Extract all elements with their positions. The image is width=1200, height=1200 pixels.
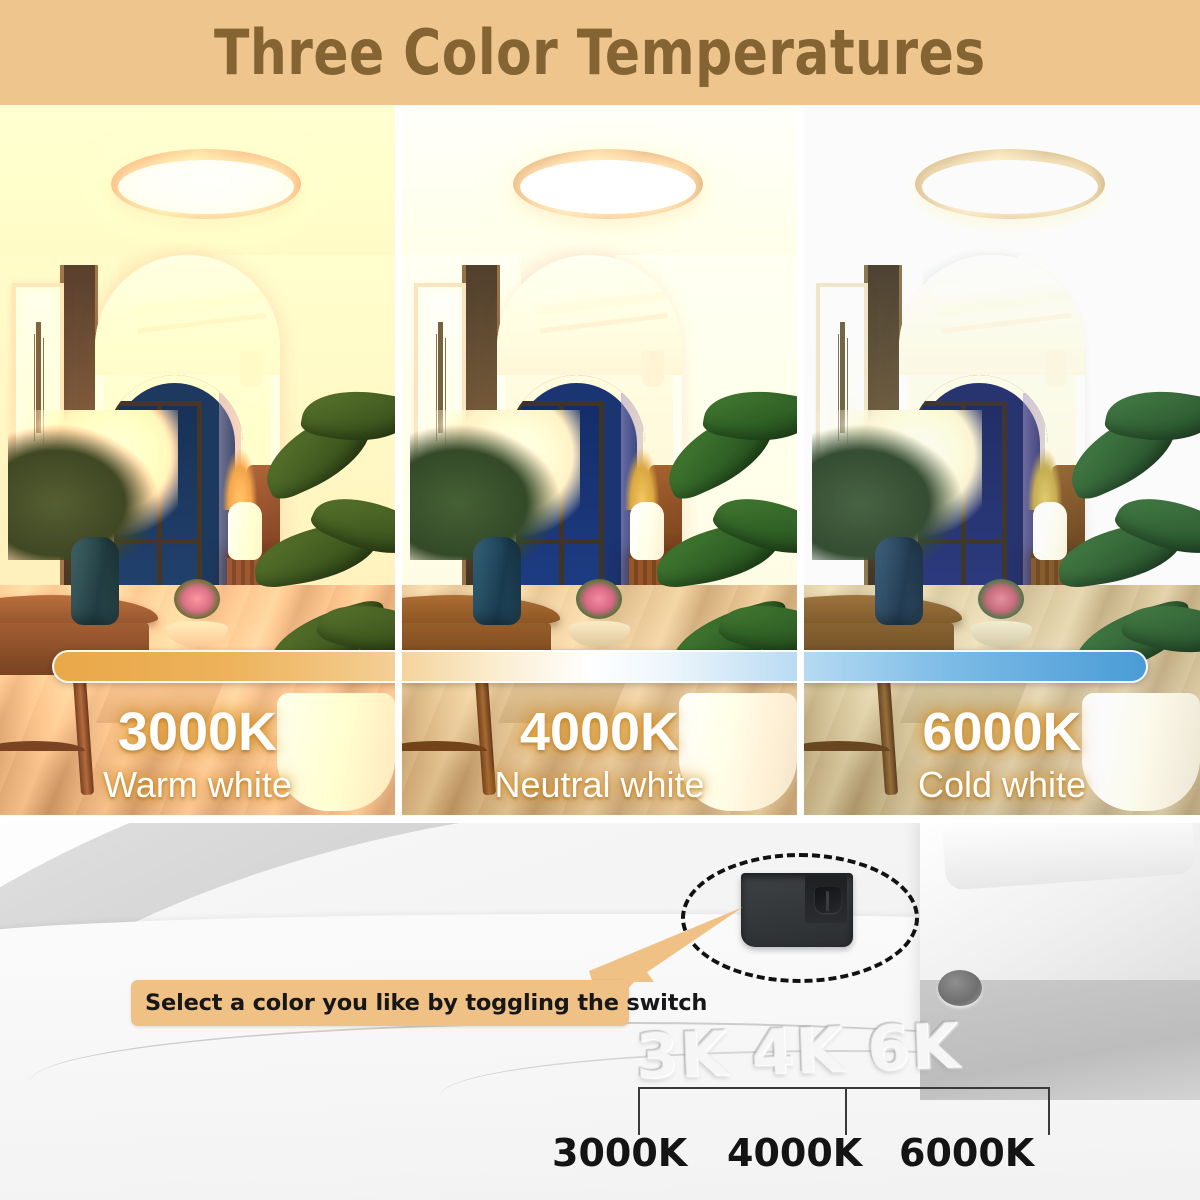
page-title: Three Color Temperatures	[214, 16, 986, 89]
leader-line-4000k	[845, 1087, 847, 1135]
ceiling-lamp	[111, 149, 301, 219]
lamp-diffuser	[520, 160, 696, 214]
console-table	[402, 595, 560, 795]
ceiling-lamp	[915, 149, 1105, 219]
scene-row	[0, 105, 1200, 815]
console-stretcher	[0, 741, 85, 751]
switch-instruction-callout: Select a color you like by toggling the …	[131, 980, 629, 1026]
switch-position-labels: 3000K 4000K 6000K	[0, 1131, 1200, 1191]
switch-label-3000k: 3000K	[552, 1131, 687, 1175]
callout-tail	[615, 958, 654, 982]
plant-pot	[679, 693, 797, 811]
leader-line-6000k	[1048, 1087, 1050, 1135]
callout-text: Select a color you like by toggling the …	[131, 990, 707, 1016]
scene-3000k	[0, 105, 395, 815]
plant-pot	[277, 693, 395, 811]
pink-flowers	[174, 579, 220, 619]
lamp-diffuser	[922, 160, 1098, 214]
blue-vase	[473, 537, 521, 625]
scene-4000k	[402, 105, 797, 815]
switch-label-6000k: 6000K	[899, 1131, 1034, 1175]
color-temperature-gradient-bar	[52, 650, 1148, 683]
large-potted-plant	[253, 381, 395, 811]
ceiling-lamp	[513, 149, 703, 219]
plant-pot	[1082, 693, 1200, 811]
scene-6000k	[804, 105, 1200, 815]
pink-flowers	[978, 579, 1024, 619]
embossed-3k4k6k-label: 3K 4K 6K	[634, 1008, 961, 1092]
header-banner: Three Color Temperatures	[0, 0, 1200, 105]
console-leg	[877, 677, 898, 796]
leader-line-3000k	[638, 1087, 640, 1135]
large-potted-plant	[1057, 381, 1200, 811]
console-table	[804, 595, 962, 795]
console-leg	[475, 677, 496, 796]
pink-flowers	[576, 579, 622, 619]
console-table	[0, 595, 158, 795]
console-stretcher	[804, 741, 890, 751]
panel-divider	[797, 105, 804, 815]
mounting-hole	[938, 970, 982, 1006]
lamp-diffuser	[118, 160, 294, 214]
product-infographic: Three Color Temperatures	[0, 0, 1200, 1200]
panel-divider	[395, 105, 402, 815]
console-leg	[73, 677, 94, 796]
console-stretcher	[402, 741, 487, 751]
large-potted-plant	[655, 381, 797, 811]
blue-vase	[875, 537, 923, 625]
blue-vase	[71, 537, 119, 625]
switch-label-4000k: 4000K	[727, 1131, 862, 1175]
leader-line-horizontal	[638, 1087, 1050, 1089]
section-divider	[0, 815, 1200, 823]
